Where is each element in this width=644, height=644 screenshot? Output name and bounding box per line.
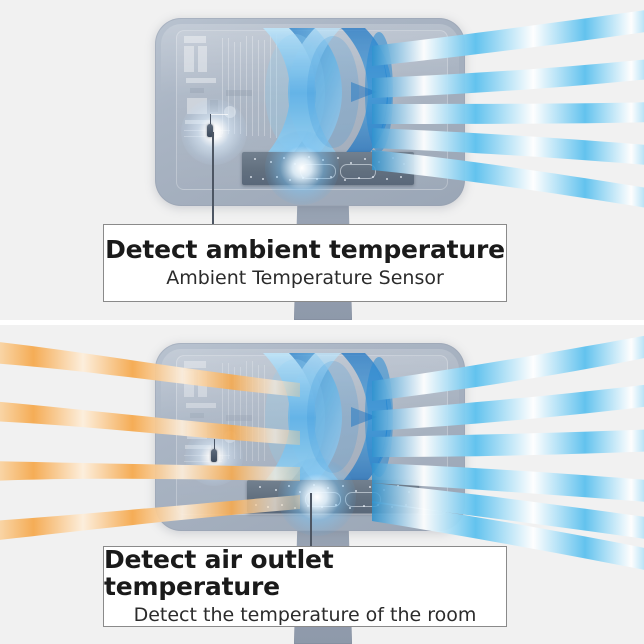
ambient-temperature-panel: Detect ambient temperature Ambient Tempe… [0, 0, 644, 320]
callout-pointer-line [310, 493, 312, 547]
air-outlet-plate [242, 152, 414, 185]
caption-box-ambient: Detect ambient temperature Ambient Tempe… [103, 224, 507, 302]
caption-subtitle: Ambient Temperature Sensor [166, 268, 444, 290]
infographic-canvas: Detect ambient temperature Ambient Tempe… [0, 0, 644, 644]
air-outlet-plate [247, 480, 419, 513]
ambient-temperature-sensor [196, 112, 232, 146]
air-outlet-temperature-panel: Detect air outlet temperature Detect the… [0, 325, 644, 644]
ambient-temperature-sensor [200, 439, 234, 471]
caption-title: Detect air outlet temperature [104, 546, 506, 600]
cross-flow-fan [255, 349, 415, 489]
caption-box-air-outlet: Detect air outlet temperature Detect the… [103, 546, 507, 627]
cross-flow-fan [255, 24, 415, 164]
caption-title: Detect ambient temperature [105, 236, 505, 263]
callout-pointer-line [212, 132, 214, 226]
caption-subtitle: Detect the temperature of the room [134, 605, 477, 627]
